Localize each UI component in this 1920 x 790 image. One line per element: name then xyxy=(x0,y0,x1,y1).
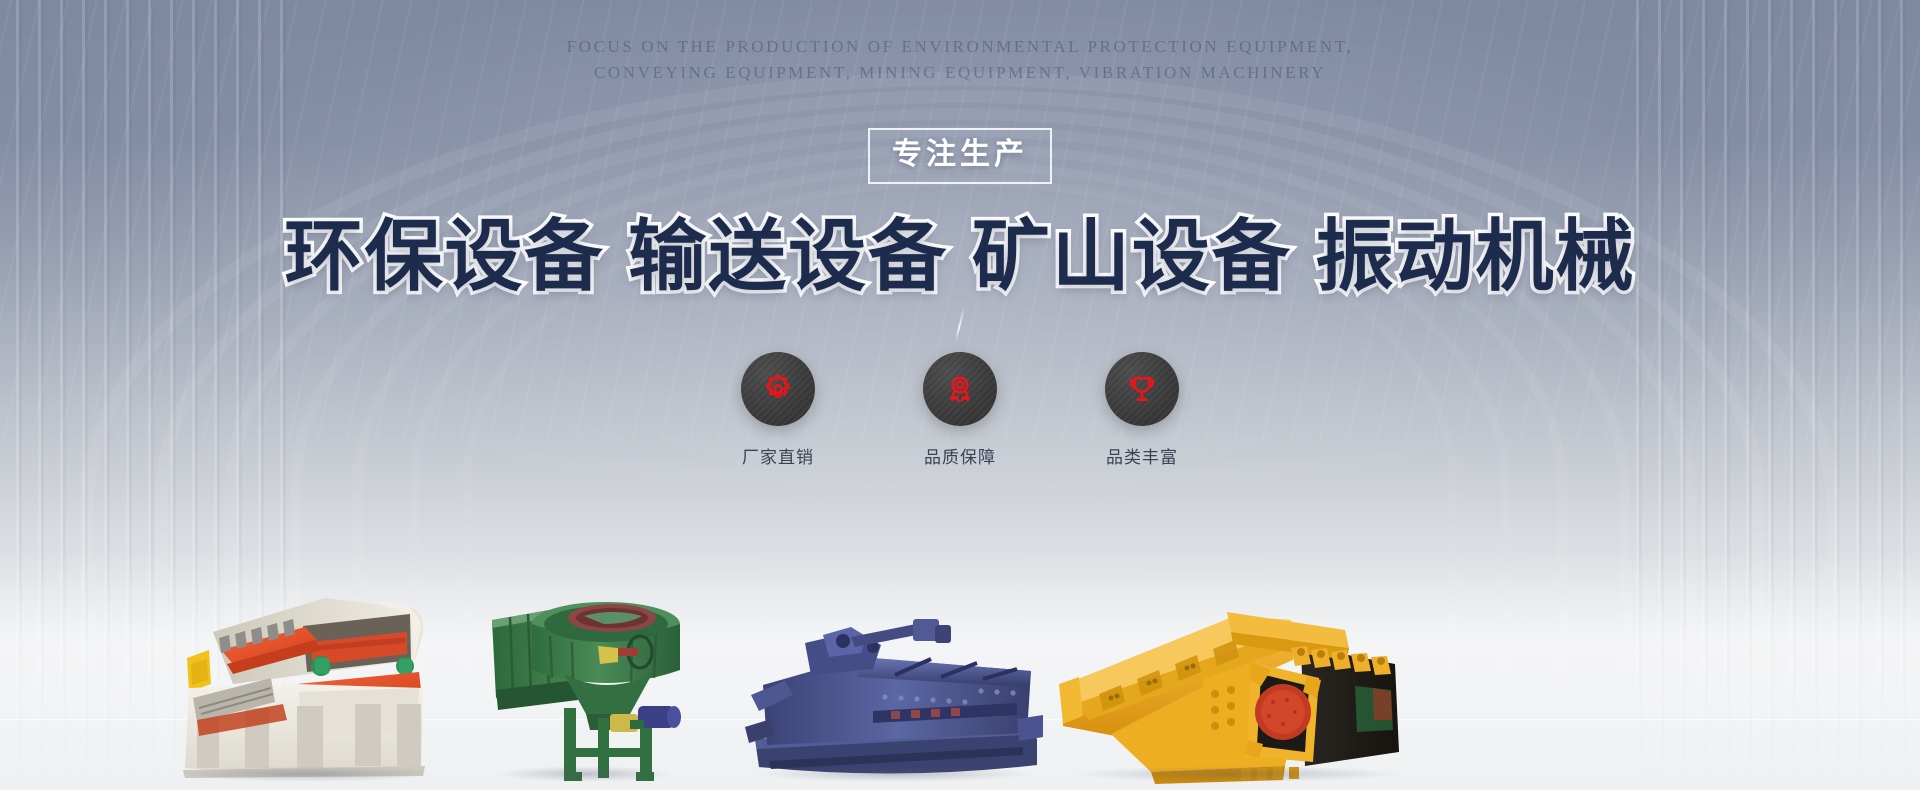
medal-icon xyxy=(943,372,977,406)
machine-image-3 xyxy=(745,615,1045,790)
machine-image-4 xyxy=(1055,590,1420,790)
tagline-text: 专注生产 xyxy=(892,138,1028,172)
machine-filtration-conveyor-unit xyxy=(175,580,440,790)
feature-item-rich-variety: 品类丰富 xyxy=(1082,352,1202,468)
feature-item-factory-direct: 厂家直销 xyxy=(718,352,838,468)
eyebrow-text: FOCUS ON THE PRODUCTION OF ENVIRONMENTAL… xyxy=(0,34,1920,86)
machine-image-1 xyxy=(175,580,440,790)
feature-item-quality-assurance: 品质保障 xyxy=(900,352,1020,468)
hero-banner: FOCUS ON THE PRODUCTION OF ENVIRONMENTAL… xyxy=(0,0,1920,790)
eyebrow-line-2: CONVEYING EQUIPMENT, MINING EQUIPMENT, V… xyxy=(0,60,1920,86)
feature-icon-circle xyxy=(741,352,815,426)
trophy-icon xyxy=(1125,372,1159,406)
headline-text: 环保设备 输送设备 矿山设备 振动机械 xyxy=(284,212,1635,300)
tagline-box: 专注生产 xyxy=(868,128,1052,184)
page-title: 环保设备 输送设备 矿山设备 振动机械 xyxy=(0,208,1920,304)
machine-yellow-jaw-crusher xyxy=(1055,590,1420,790)
gear-icon xyxy=(761,372,795,406)
machine-blue-vibrating-screen xyxy=(745,615,1045,790)
machine-showcase xyxy=(0,460,1920,790)
headline-divider-slash xyxy=(955,306,966,341)
feature-icon-circle xyxy=(1105,352,1179,426)
eyebrow-line-1: FOCUS ON THE PRODUCTION OF ENVIRONMENTAL… xyxy=(567,37,1354,56)
machine-image-2 xyxy=(480,590,690,790)
machine-green-disc-feeder xyxy=(480,590,690,790)
feature-list: 厂家直销 品质保障 xyxy=(718,352,1202,468)
feature-icon-circle xyxy=(923,352,997,426)
